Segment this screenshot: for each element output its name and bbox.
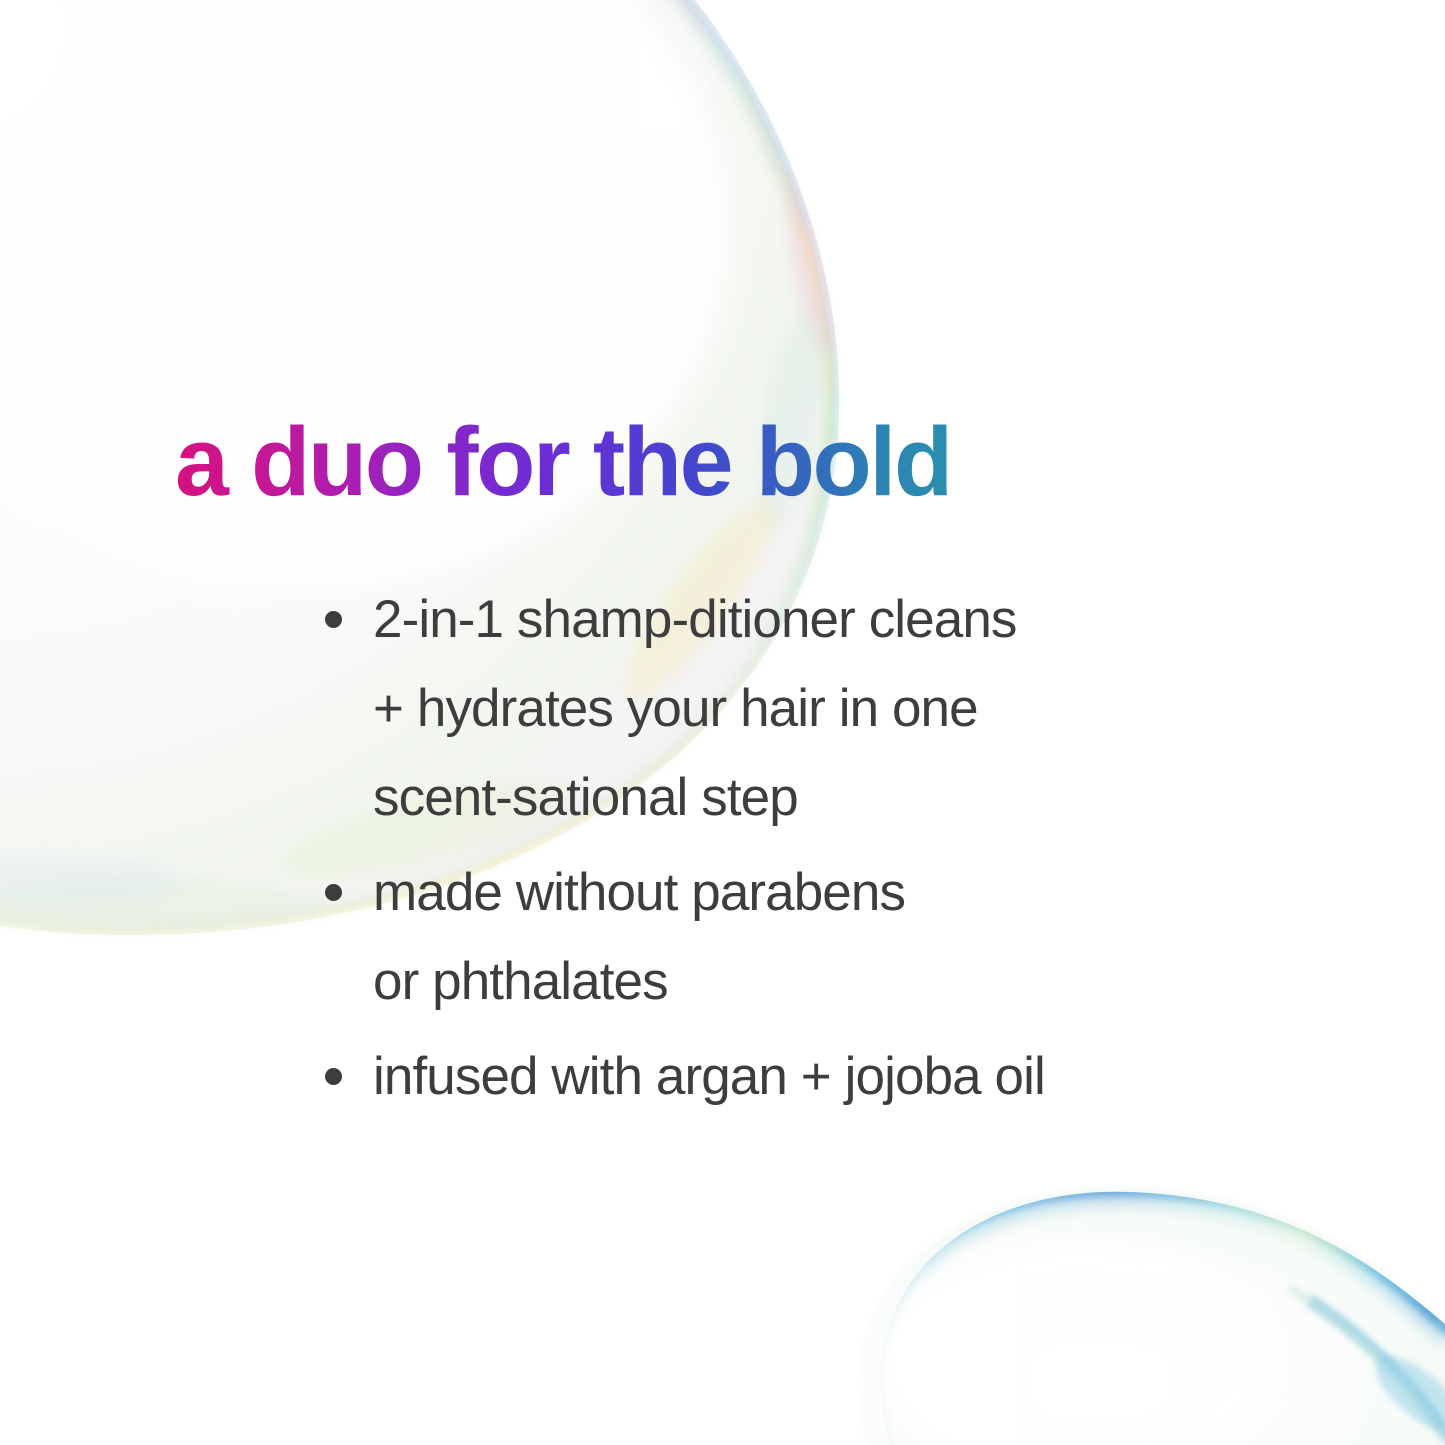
list-item: infused with argan + jojoba oil <box>318 1032 1218 1121</box>
product-feature-card: a duo for the bold 2-in-1 shamp-ditioner… <box>0 0 1445 1445</box>
bullet-dot-icon <box>325 1068 342 1085</box>
text-content: a duo for the bold 2-in-1 shamp-ditioner… <box>0 0 1445 1445</box>
list-item-line: 2-in-1 shamp-ditioner cleans <box>373 575 1218 664</box>
feature-bullet-list: 2-in-1 shamp-ditioner cleans + hydrates … <box>318 575 1218 1127</box>
list-item-line: + hydrates your hair in one <box>373 664 1218 753</box>
page-title: a duo for the bold <box>175 408 951 517</box>
list-item: made without parabens or phthalates <box>318 848 1218 1026</box>
list-item-line: infused with argan + jojoba oil <box>373 1032 1218 1121</box>
bullet-dot-icon <box>325 884 342 901</box>
list-item-line: or phthalates <box>373 937 1218 1026</box>
list-item-line: made without parabens <box>373 848 1218 937</box>
list-item-line: scent-sational step <box>373 753 1218 842</box>
bullet-dot-icon <box>325 611 342 628</box>
list-item: 2-in-1 shamp-ditioner cleans + hydrates … <box>318 575 1218 842</box>
